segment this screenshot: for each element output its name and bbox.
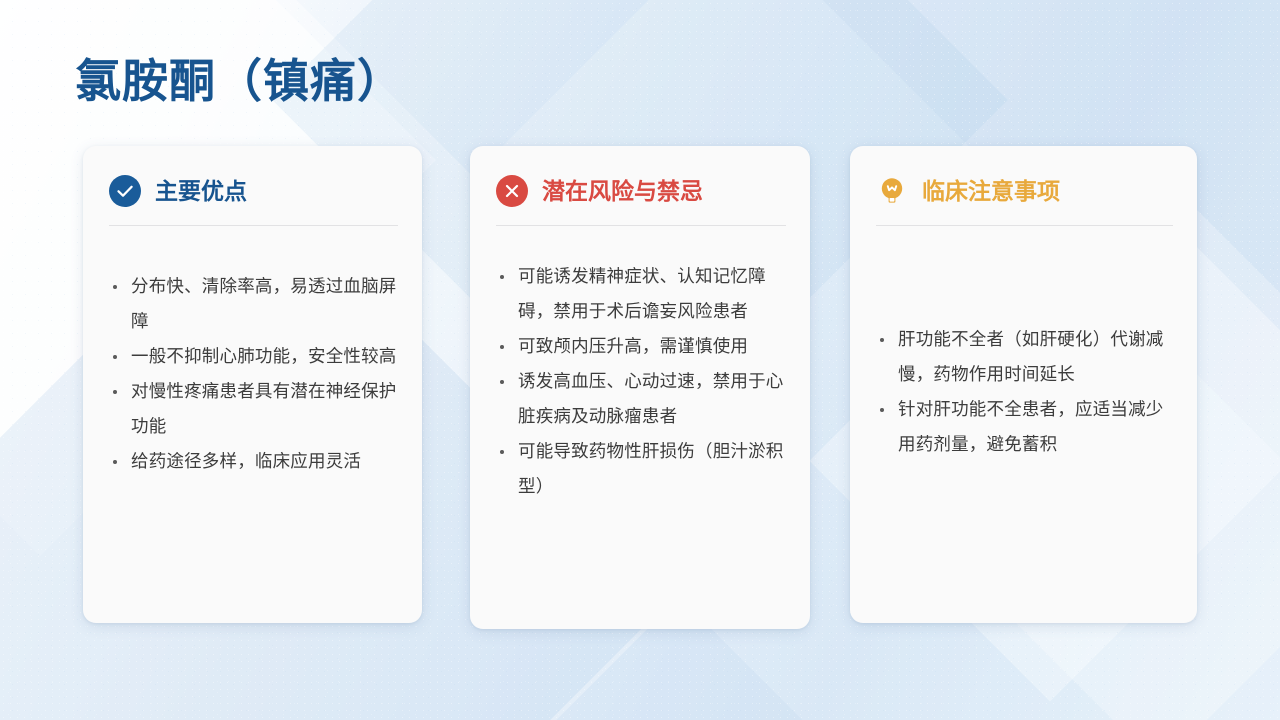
card-title: 临床注意事项 (922, 180, 1060, 203)
list-item: 一般不抑制心肺功能，安全性较高 (109, 339, 402, 374)
x-circle-icon (496, 175, 528, 207)
card-header: 临床注意事项 (850, 146, 1197, 207)
slide-canvas: 氯胺酮（镇痛） 主要优点 分布快、清除率高，易透过血脑屏障 一般不抑制心肺功能，… (0, 0, 1280, 720)
card-potential-risks: 潜在风险与禁忌 可能诱发精神症状、认知记忆障碍，禁用于术后谵妄风险患者 可致颅内… (470, 146, 810, 629)
card-main-benefits: 主要优点 分布快、清除率高，易透过血脑屏障 一般不抑制心肺功能，安全性较高 对慢… (83, 146, 422, 623)
bullet-list: 分布快、清除率高，易透过血脑屏障 一般不抑制心肺功能，安全性较高 对慢性疼痛患者… (83, 269, 422, 479)
list-item: 针对肝功能不全患者，应适当减少用药剂量，避免蓄积 (876, 392, 1177, 462)
card-title: 潜在风险与禁忌 (542, 180, 703, 203)
header-divider (496, 225, 786, 226)
header-divider (109, 225, 398, 226)
bullet-list: 肝功能不全者（如肝硬化）代谢减慢，药物作用时间延长 针对肝功能不全患者，应适当减… (850, 322, 1197, 462)
list-item: 肝功能不全者（如肝硬化）代谢减慢，药物作用时间延长 (876, 322, 1177, 392)
card-header: 潜在风险与禁忌 (470, 146, 810, 207)
header-divider (876, 225, 1173, 226)
list-item: 对慢性疼痛患者具有潜在神经保护功能 (109, 374, 402, 444)
list-item: 分布快、清除率高，易透过血脑屏障 (109, 269, 402, 339)
card-clinical-notes: 临床注意事项 肝功能不全者（如肝硬化）代谢减慢，药物作用时间延长 针对肝功能不全… (850, 146, 1197, 623)
list-item: 给药途径多样，临床应用灵活 (109, 444, 402, 479)
list-item: 诱发高血压、心动过速，禁用于心脏疾病及动脉瘤患者 (496, 364, 790, 434)
list-item: 可能诱发精神症状、认知记忆障碍，禁用于术后谵妄风险患者 (496, 259, 790, 329)
bullet-list: 可能诱发精神症状、认知记忆障碍，禁用于术后谵妄风险患者 可致颅内压升高，需谨慎使… (470, 259, 810, 504)
check-circle-icon (109, 175, 141, 207)
list-item: 可能导致药物性肝损伤（胆汁淤积型） (496, 434, 790, 504)
card-header: 主要优点 (83, 146, 422, 207)
list-item: 可致颅内压升高，需谨慎使用 (496, 329, 790, 364)
lightbulb-icon (876, 175, 908, 207)
card-title: 主要优点 (155, 180, 247, 203)
page-title: 氯胺酮（镇痛） (75, 55, 404, 108)
